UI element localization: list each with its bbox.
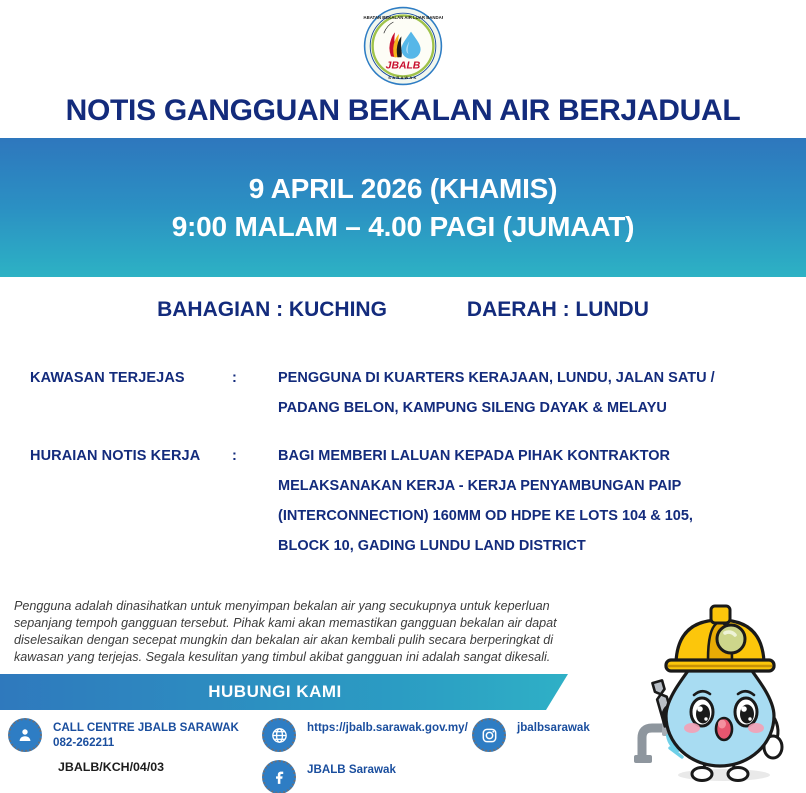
globe-icon <box>262 718 296 752</box>
works-description-label: HURAIAN NOTIS KERJA <box>30 441 232 471</box>
works-description-value: BAGI MEMBERI LALUAN KEPADA PIHAK KONTRAK… <box>278 441 776 561</box>
person-icon <box>8 718 42 752</box>
contact-facebook[interactable]: JBALB Sarawak <box>262 760 396 793</box>
website-url: https://jbalb.sarawak.gov.my/ <box>307 718 468 735</box>
call-centre-text: CALL CENTRE JBALB SARAWAK 082-262211 <box>53 718 239 750</box>
svg-text:JBALB: JBALB <box>386 60 421 71</box>
facebook-icon <box>262 760 296 793</box>
affected-areas-label: KAWASAN TERJEJAS <box>30 363 232 393</box>
notice-time-range: 9:00 MALAM – 4.00 PAGI (JUMAAT) <box>172 211 635 243</box>
contact-banner-label: HUBUNGI KAMI <box>208 682 360 702</box>
works-description-colon: : <box>232 441 278 471</box>
works-description-line: (INTERCONNECTION) 160MM OD HDPE KE LOTS … <box>278 501 776 531</box>
affected-areas-line: PADANG BELON, KAMPUNG SILENG DAYAK & MEL… <box>278 393 776 423</box>
notice-date: 9 APRIL 2026 (KHAMIS) <box>249 173 558 205</box>
contact-call-centre[interactable]: CALL CENTRE JBALB SARAWAK 082-262211 <box>8 718 239 752</box>
date-time-band: 9 APRIL 2026 (KHAMIS) 9:00 MALAM – 4.00 … <box>0 138 806 277</box>
instagram-handle: jbalbsarawak <box>517 718 590 735</box>
banner-stripe-2 <box>581 674 615 710</box>
reference-number: JBALB/KCH/04/03 <box>58 760 164 774</box>
contact-instagram[interactable]: jbalbsarawak <box>472 718 590 752</box>
division-label: BAHAGIAN : KUCHING <box>157 298 387 322</box>
contact-website[interactable]: https://jbalb.sarawak.gov.my/ <box>262 718 468 752</box>
works-description-line: BLOCK 10, GADING LUNDU LAND DISTRICT <box>278 531 776 561</box>
call-centre-name: CALL CENTRE JBALB SARAWAK <box>53 721 239 734</box>
affected-areas-value: PENGGUNA DI KUARTERS KERAJAAN, LUNDU, JA… <box>278 363 776 423</box>
notice-page: JABATAN BEKALAN AIR LUAR BANDAR JBALB SA… <box>0 0 806 793</box>
district-label: DAERAH : LUNDU <box>467 298 649 322</box>
works-description-line: BAGI MEMBERI LALUAN KEPADA PIHAK KONTRAK… <box>278 441 776 471</box>
facebook-handle: JBALB Sarawak <box>307 760 396 777</box>
call-centre-number: 082-262211 <box>53 736 114 749</box>
advisory-text: Pengguna adalah dinasihatkan untuk menyi… <box>14 598 590 666</box>
region-row: BAHAGIAN : KUCHING DAERAH : LUNDU <box>0 298 806 322</box>
svg-text:JABATAN BEKALAN AIR LUAR BANDA: JABATAN BEKALAN AIR LUAR BANDAR <box>363 15 443 20</box>
affected-areas-line: PENGGUNA DI KUARTERS KERAJAAN, LUNDU, JA… <box>278 363 776 393</box>
page-title: NOTIS GANGGUAN BEKALAN AIR BERJADUAL <box>0 94 806 128</box>
works-description-line: MELAKSANAKAN KERJA - KERJA PENYAMBUNGAN … <box>278 471 776 501</box>
logo-container: JABATAN BEKALAN AIR LUAR BANDAR JBALB SA… <box>0 6 806 86</box>
affected-areas-row: KAWASAN TERJEJAS : PENGGUNA DI KUARTERS … <box>30 363 776 423</box>
contact-banner-body: HUBUNGI KAMI <box>0 674 568 710</box>
svg-text:SARAWAK: SARAWAK <box>388 75 417 80</box>
instagram-icon <box>472 718 506 752</box>
affected-areas-colon: : <box>232 363 278 393</box>
hardhat-icon <box>666 606 774 671</box>
water-droplet-mascot-with-hardhat <box>628 592 806 792</box>
jbalb-sarawak-logo: JABATAN BEKALAN AIR LUAR BANDAR JBALB SA… <box>363 6 443 86</box>
banner-stripe-1 <box>563 674 597 710</box>
works-description-row: HURAIAN NOTIS KERJA : BAGI MEMBERI LALUA… <box>30 441 776 561</box>
